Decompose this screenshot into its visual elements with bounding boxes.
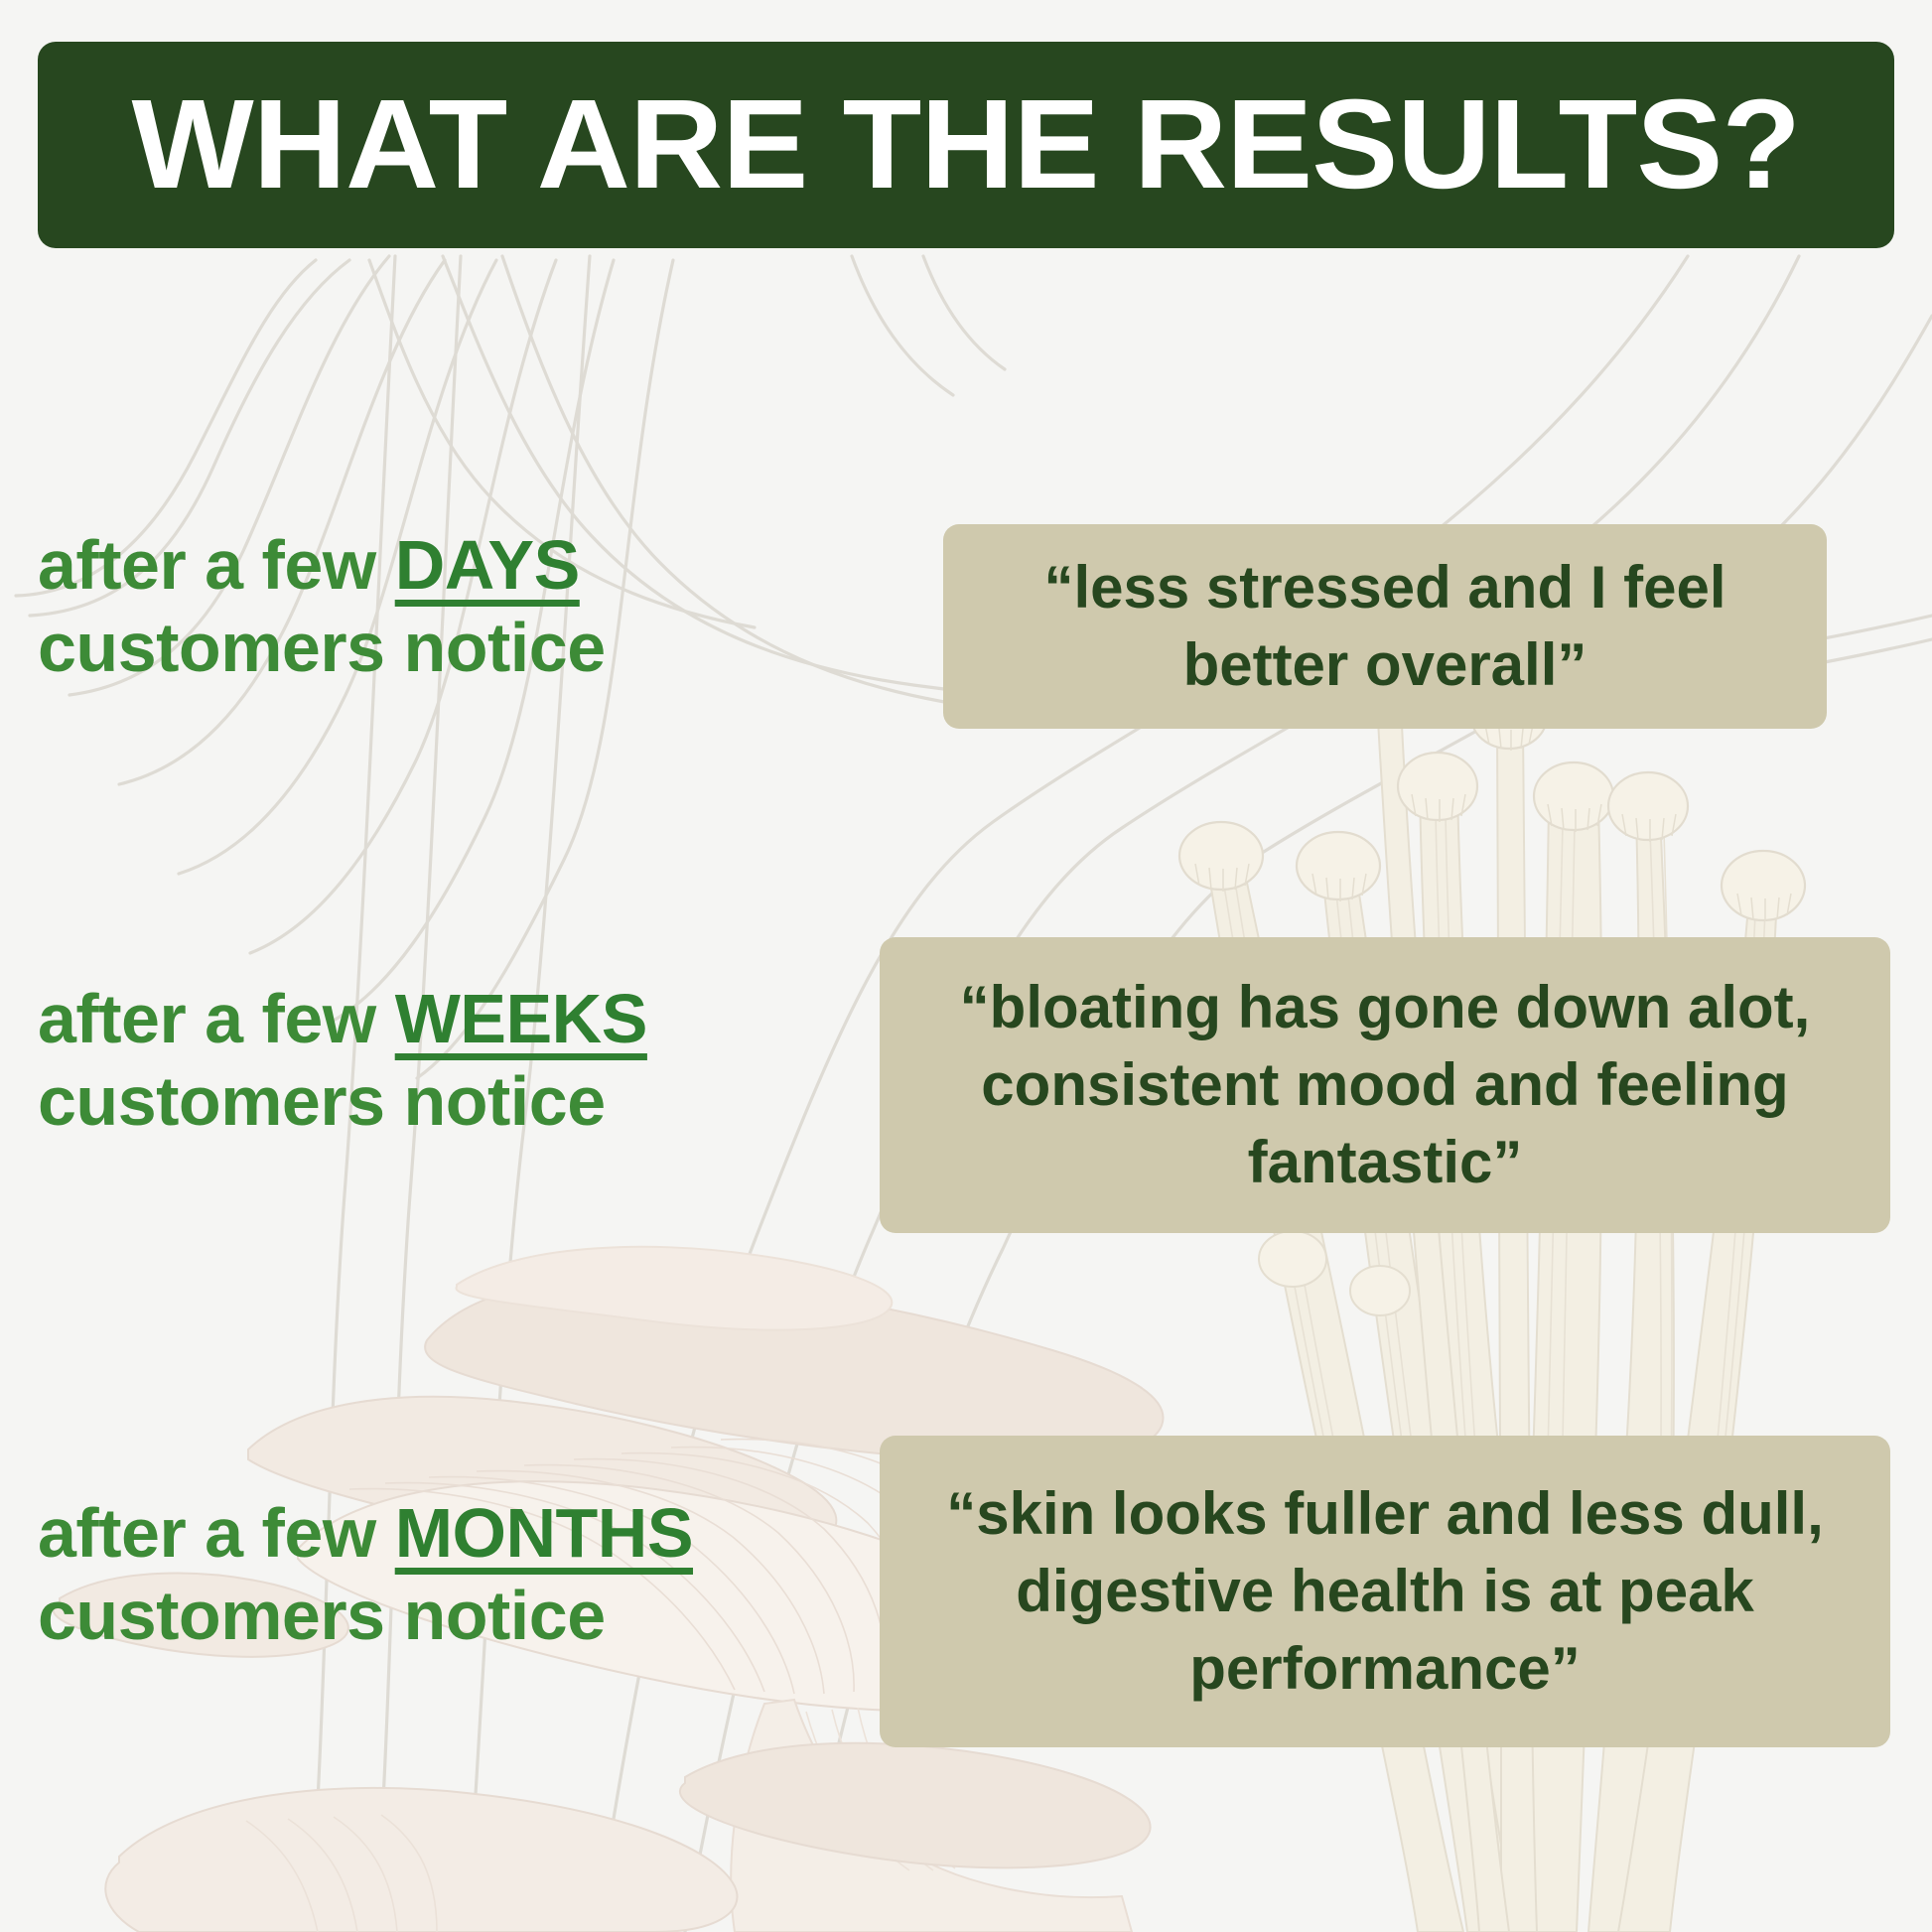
quote-card-weeks: “bloating has gone down alot, consistent… (880, 937, 1890, 1233)
timeline-emphasis-months: MONTHS (395, 1494, 693, 1572)
page-title: WHAT ARE THE RESULTS? (132, 81, 1801, 208)
timeline-label-days-line1: after a few DAYS (38, 524, 606, 607)
timeline-label-weeks: after a few WEEKS customers notice (38, 978, 647, 1142)
quote-card-months: “skin looks fuller and less dull, digest… (880, 1436, 1890, 1747)
timeline-prefix-months: after a few (38, 1494, 395, 1572)
quote-card-days: “less stressed and I feel better overall… (943, 524, 1827, 729)
timeline-emphasis-days: DAYS (395, 526, 580, 604)
timeline-label-months-line2: customers notice (38, 1575, 693, 1657)
quote-text-weeks: “bloating has gone down alot, consistent… (880, 969, 1890, 1201)
timeline-prefix-weeks: after a few (38, 980, 395, 1057)
timeline-label-weeks-line1: after a few WEEKS (38, 978, 647, 1060)
poster-canvas: WHAT ARE THE RESULTS? after a few DAYS c… (0, 0, 1932, 1932)
timeline-label-months: after a few MONTHS customers notice (38, 1492, 693, 1656)
quote-text-days: “less stressed and I feel better overall… (943, 549, 1827, 704)
quote-text-months: “skin looks fuller and less dull, digest… (880, 1475, 1890, 1708)
header-banner: WHAT ARE THE RESULTS? (38, 42, 1894, 248)
timeline-emphasis-weeks: WEEKS (395, 980, 647, 1057)
timeline-prefix-days: after a few (38, 526, 395, 604)
timeline-label-weeks-line2: customers notice (38, 1060, 647, 1143)
timeline-label-days: after a few DAYS customers notice (38, 524, 606, 688)
timeline-label-months-line1: after a few MONTHS (38, 1492, 693, 1575)
timeline-label-days-line2: customers notice (38, 607, 606, 689)
